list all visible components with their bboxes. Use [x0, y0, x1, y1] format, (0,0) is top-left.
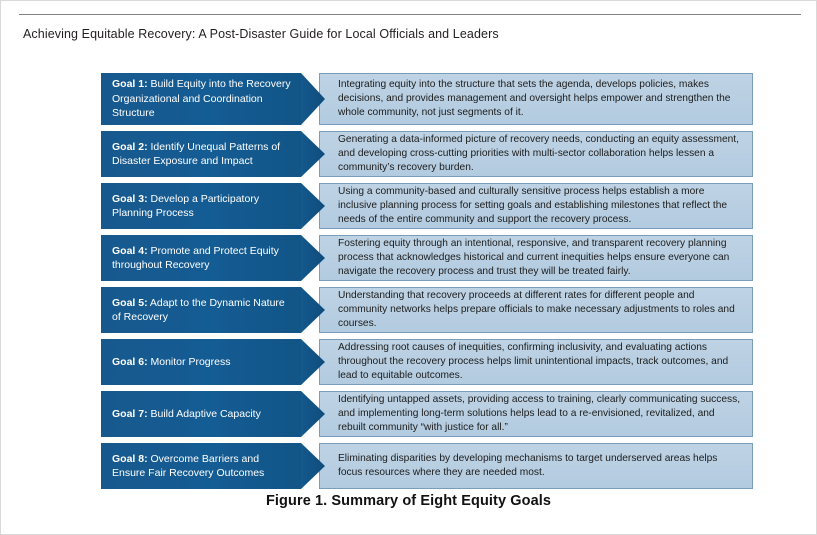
goal-row: Goal 3: Develop a Participatory Planning… — [101, 183, 753, 229]
goal-description-panel-2: Generating a data-informed picture of re… — [319, 131, 753, 177]
goal-title-7: Build Adaptive Capacity — [148, 408, 261, 420]
goal-number-3: Goal 3: — [112, 193, 148, 205]
goal-label-8: Goal 8: Overcome Barriers and Ensure Fai… — [101, 443, 301, 489]
running-head-title: Achieving Equitable Recovery: A Post-Dis… — [23, 26, 499, 42]
goal-row: Goal 2: Identify Unequal Patterns of Dis… — [101, 131, 753, 177]
goal-description-text-2: Generating a data-informed picture of re… — [338, 133, 743, 176]
goal-label-1: Goal 1: Build Equity into the Recovery O… — [101, 73, 301, 125]
goal-number-7: Goal 7: — [112, 408, 148, 420]
goal-row: Goal 6: Monitor Progress Addressing root… — [101, 339, 753, 385]
goal-number-2: Goal 2: — [112, 141, 148, 153]
goal-title-6: Monitor Progress — [148, 356, 231, 368]
goal-description-text-7: Identifying untapped assets, providing a… — [338, 393, 743, 436]
goal-row: Goal 4: Promote and Protect Equity throu… — [101, 235, 753, 281]
goal-description-panel-7: Identifying untapped assets, providing a… — [319, 391, 753, 437]
goal-number-8: Goal 8: — [112, 453, 148, 465]
goal-row: Goal 1: Build Equity into the Recovery O… — [101, 73, 753, 125]
goal-description-panel-4: Fostering equity through an intentional,… — [319, 235, 753, 281]
goal-label-6: Goal 6: Monitor Progress — [101, 339, 301, 385]
goal-description-text-3: Using a community-based and culturally s… — [338, 185, 743, 228]
header-divider-rule — [19, 14, 801, 15]
goal-number-6: Goal 6: — [112, 356, 148, 368]
goal-row: Goal 5: Adapt to the Dynamic Nature of R… — [101, 287, 753, 333]
goal-description-panel-5: Understanding that recovery proceeds at … — [319, 287, 753, 333]
goal-row: Goal 7: Build Adaptive Capacity Identify… — [101, 391, 753, 437]
goal-label-2: Goal 2: Identify Unequal Patterns of Dis… — [101, 131, 301, 177]
goal-label-4: Goal 4: Promote and Protect Equity throu… — [101, 235, 301, 281]
equity-goals-figure: Goal 1: Build Equity into the Recovery O… — [101, 73, 753, 495]
goal-row: Goal 8: Overcome Barriers and Ensure Fai… — [101, 443, 753, 489]
goal-description-text-8: Eliminating disparities by developing me… — [338, 452, 743, 480]
goal-label-7: Goal 7: Build Adaptive Capacity — [101, 391, 301, 437]
goal-description-text-1: Integrating equity into the structure th… — [338, 78, 743, 121]
goal-number-1: Goal 1: — [112, 78, 148, 90]
goal-label-3: Goal 3: Develop a Participatory Planning… — [101, 183, 301, 229]
goal-number-4: Goal 4: — [112, 245, 148, 257]
goal-description-panel-8: Eliminating disparities by developing me… — [319, 443, 753, 489]
goal-description-panel-3: Using a community-based and culturally s… — [319, 183, 753, 229]
figure-caption: Figure 1. Summary of Eight Equity Goals — [1, 493, 816, 509]
goal-description-panel-1: Integrating equity into the structure th… — [319, 73, 753, 125]
goal-description-text-4: Fostering equity through an intentional,… — [338, 237, 743, 280]
goal-number-5: Goal 5: — [112, 297, 148, 309]
goal-label-5: Goal 5: Adapt to the Dynamic Nature of R… — [101, 287, 301, 333]
goal-description-text-5: Understanding that recovery proceeds at … — [338, 289, 743, 332]
goal-description-text-6: Addressing root causes of inequities, co… — [338, 341, 743, 384]
goal-description-panel-6: Addressing root causes of inequities, co… — [319, 339, 753, 385]
